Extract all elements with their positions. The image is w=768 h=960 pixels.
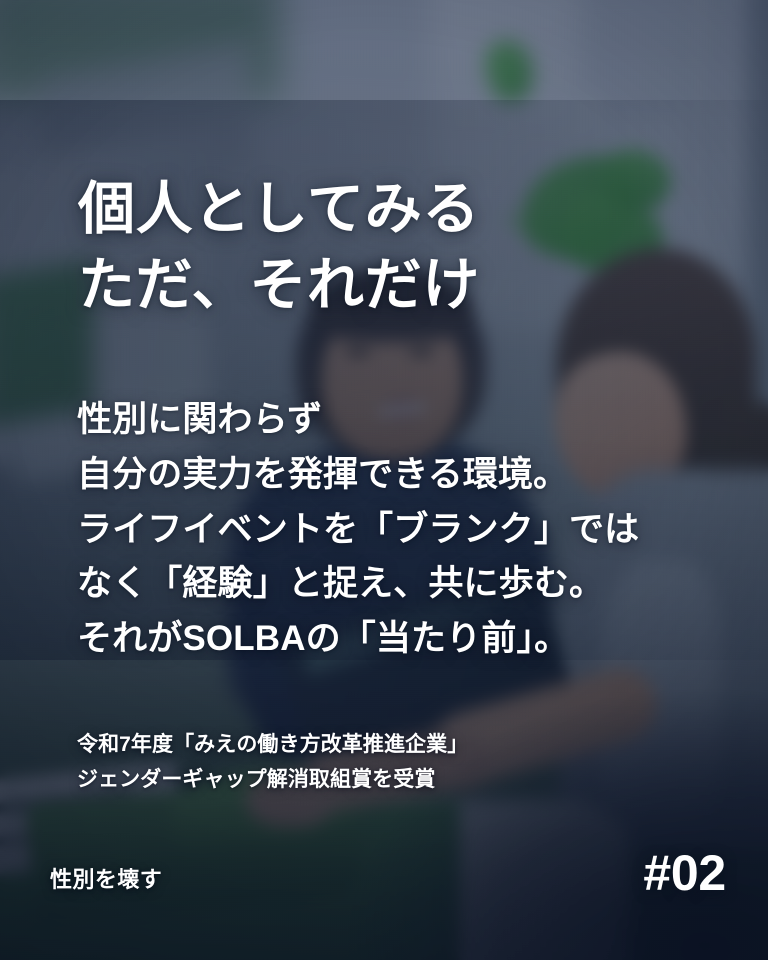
slide-content: 個人としてみる ただ、それだけ 性別に関わらず 自分の実力を発揮できる環境。 ラ…	[0, 0, 768, 960]
headline: 個人としてみる ただ、それだけ	[78, 172, 480, 324]
page-number-badge: #02	[643, 848, 726, 898]
promo-slide: 個人としてみる ただ、それだけ 性別に関わらず 自分の実力を発揮できる環境。 ラ…	[0, 0, 768, 960]
award-caption: 令和7年度「みえの働き方改革推進企業」 ジェンダーギャップ解消取組賞を受賞	[77, 727, 468, 798]
footer-tag: 性別を壊す	[50, 862, 162, 894]
body-copy: 性別に関わらず 自分の実力を発揮できる環境。 ライフイベントを「ブランク」では …	[77, 393, 639, 667]
